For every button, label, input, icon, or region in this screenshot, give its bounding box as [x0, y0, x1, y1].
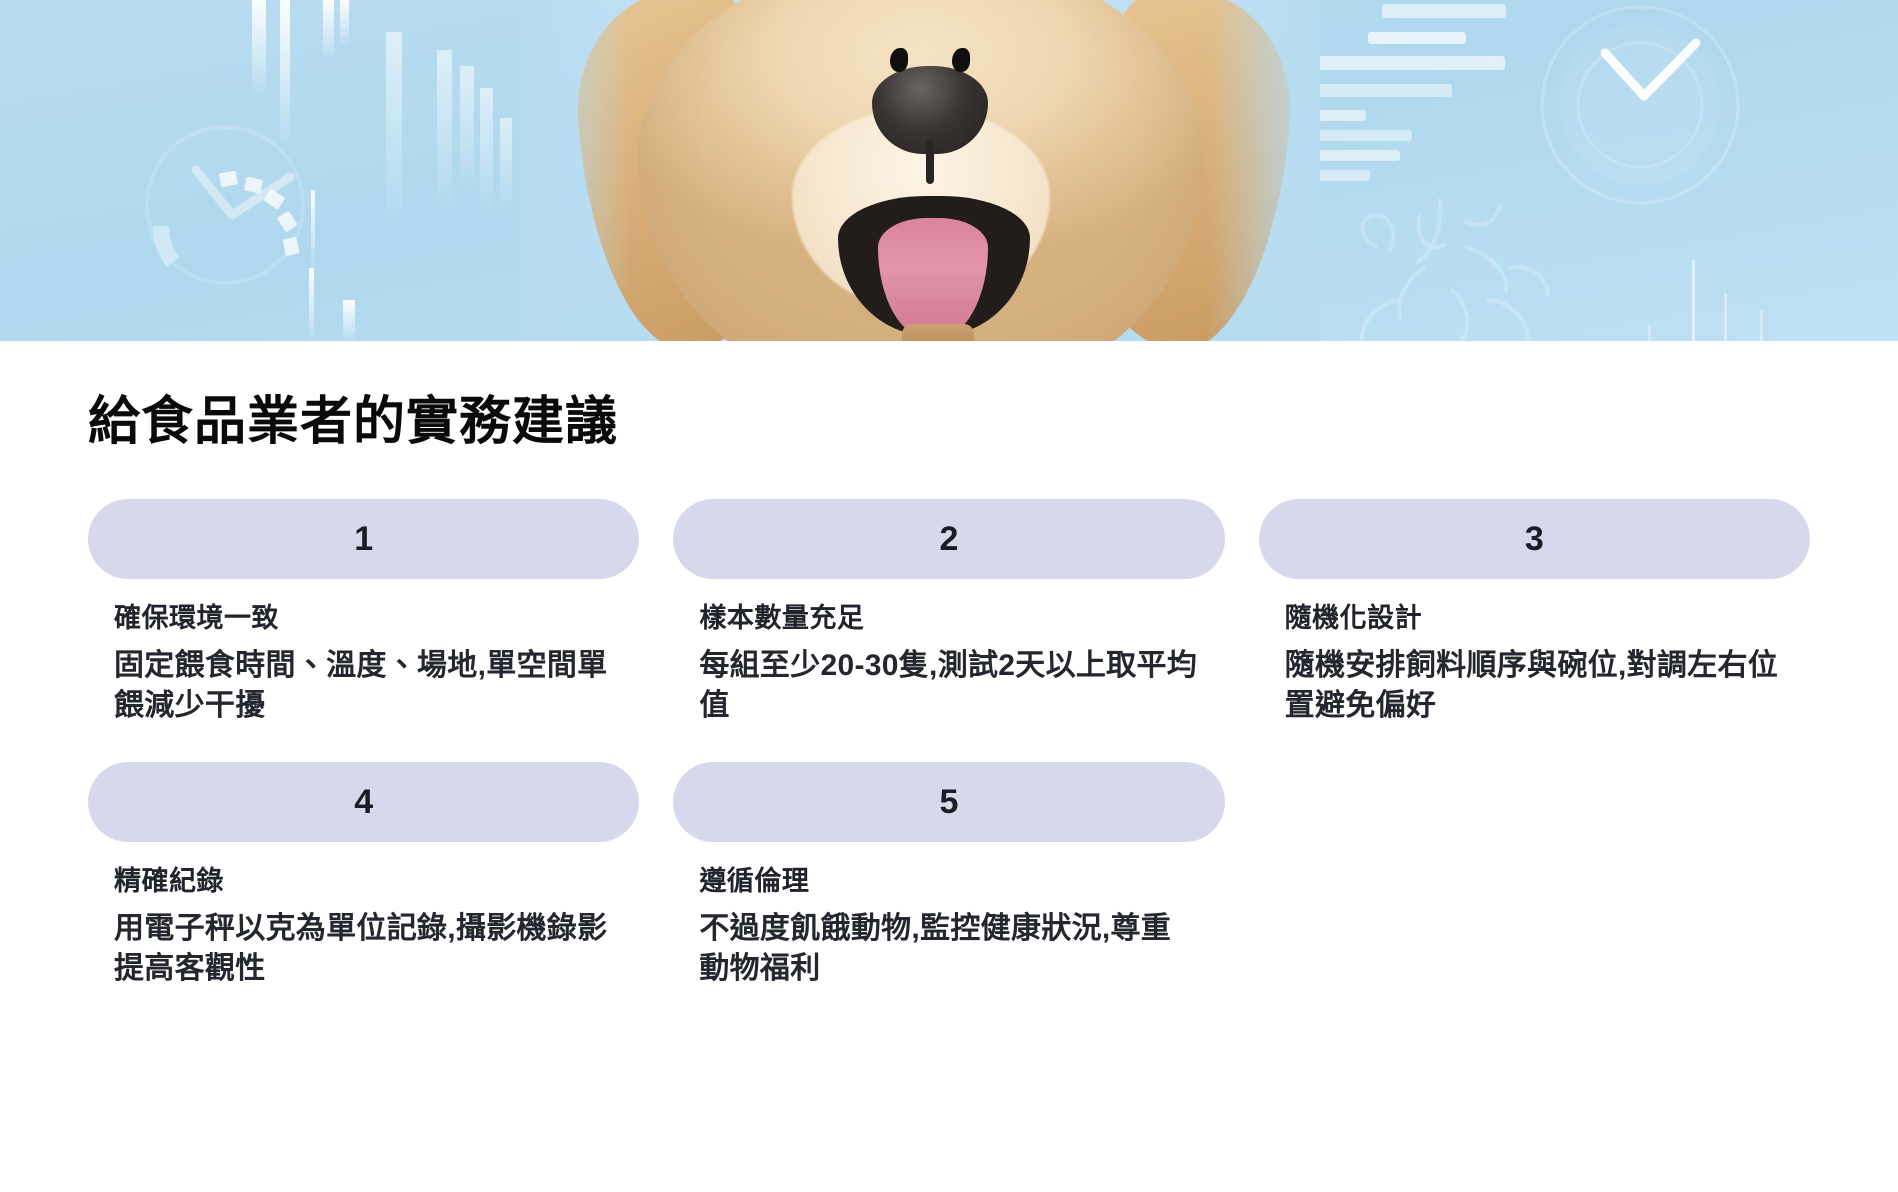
card-heading: 樣本數量充足	[699, 601, 1224, 636]
card-number-pill: 3	[1259, 499, 1810, 579]
card-body: 樣本數量充足 每組至少20-30隻,測試2天以上取平均值	[673, 579, 1224, 726]
card-number: 2	[940, 522, 959, 556]
card-body: 隨機化設計 隨機安排飼料順序與碗位,對調左右位置避免偏好	[1259, 579, 1810, 726]
card-number-pill: 5	[673, 762, 1224, 842]
content-area: 給食品業者的實務建議 1 確保環境一致 固定餵食時間、溫度、場地,單空間單餵減少…	[0, 393, 1898, 989]
card-heading: 隨機化設計	[1285, 601, 1810, 636]
recommendation-card[interactable]: 4 精確紀錄 用電子秤以克為單位記錄,攝影機錄影提高客觀性	[88, 762, 639, 989]
recommendation-card[interactable]: 2 樣本數量充足 每組至少20-30隻,測試2天以上取平均值	[673, 499, 1224, 726]
card-number: 4	[354, 785, 373, 819]
card-heading: 精確紀錄	[114, 864, 639, 899]
card-description: 每組至少20-30隻,測試2天以上取平均值	[699, 646, 1199, 726]
recommendation-card-grid: 1 確保環境一致 固定餵食時間、溫度、場地,單空間單餵減少干擾 2 樣本數量充足…	[88, 499, 1810, 989]
recommendation-card[interactable]: 1 確保環境一致 固定餵食時間、溫度、場地,單空間單餵減少干擾	[88, 499, 639, 726]
vertical-line-accents	[1648, 260, 1763, 341]
card-heading: 遵循倫理	[699, 864, 1224, 899]
card-number-pill: 4	[88, 762, 639, 842]
card-description: 固定餵食時間、溫度、場地,單空間單餵減少干擾	[114, 646, 614, 726]
clock-icon	[1542, 7, 1738, 203]
card-number-pill: 1	[88, 499, 639, 579]
page-title: 給食品業者的實務建議	[88, 393, 1810, 453]
photo-edge-fade	[520, 0, 1320, 341]
slide-page: 給食品業者的實務建議 1 確保環境一致 固定餵食時間、溫度、場地,單空間單餵減少…	[0, 0, 1898, 1192]
card-number-pill: 2	[673, 499, 1224, 579]
hero-banner	[0, 0, 1898, 341]
hero-dog-photo	[520, 0, 1320, 341]
card-body: 確保環境一致 固定餵食時間、溫度、場地,單空間單餵減少干擾	[88, 579, 639, 726]
neuron-branch-graphic	[1362, 200, 1548, 340]
card-description: 隨機安排飼料順序與碗位,對調左右位置避免偏好	[1285, 646, 1785, 726]
card-body: 精確紀錄 用電子秤以克為單位記錄,攝影機錄影提高客觀性	[88, 842, 639, 989]
recommendation-card[interactable]: 3 隨機化設計 隨機安排飼料順序與碗位,對調左右位置避免偏好	[1259, 499, 1810, 726]
card-number: 3	[1525, 522, 1544, 556]
card-body: 遵循倫理 不過度飢餓動物,監控健康狀況,尊重動物福利	[673, 842, 1224, 989]
recommendation-card[interactable]: 5 遵循倫理 不過度飢餓動物,監控健康狀況,尊重動物福利	[673, 762, 1224, 989]
hero-background	[0, 0, 1898, 341]
card-number: 5	[940, 785, 959, 819]
card-number: 1	[354, 522, 373, 556]
text-line-placeholders	[1295, 4, 1506, 181]
card-description: 不過度飢餓動物,監控健康狀況,尊重動物福利	[699, 909, 1199, 989]
card-description: 用電子秤以克為單位記錄,攝影機錄影提高客觀性	[114, 909, 614, 989]
card-heading: 確保環境一致	[114, 601, 639, 636]
bar-chart-bars-left	[252, 0, 355, 341]
